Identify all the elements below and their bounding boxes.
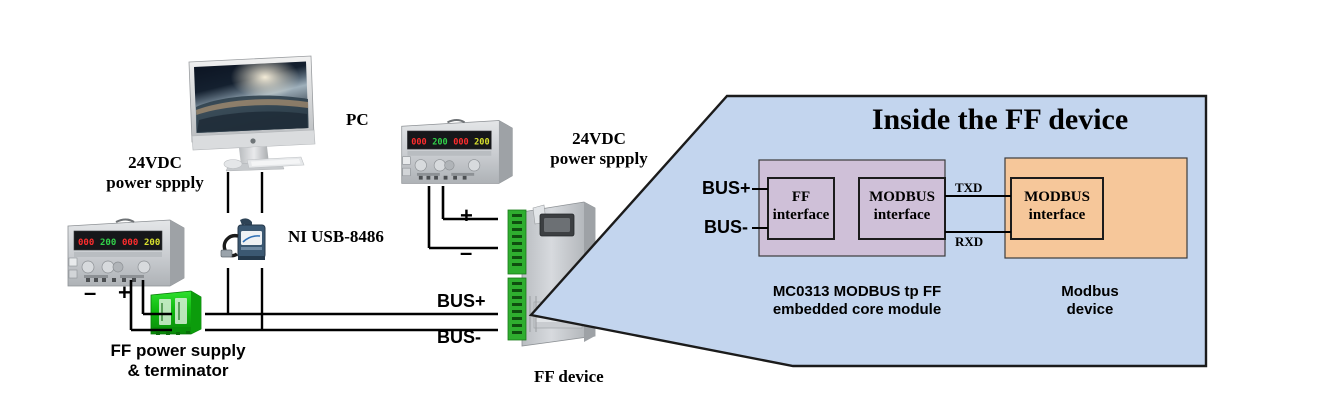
label-left-psu-minus: – bbox=[84, 280, 96, 306]
modbus-interface-module-label: MODBUS interface bbox=[859, 189, 945, 224]
diagram-canvas: 000 200 000 200 000 200 000 200 bbox=[0, 0, 1335, 411]
callout-label-rxd: RXD bbox=[955, 234, 983, 249]
label-ff-power-supply: FF power supply & terminator bbox=[88, 341, 268, 381]
label-left-psu-plus: + bbox=[118, 280, 131, 306]
label-pc: PC bbox=[346, 110, 369, 130]
callout-title: Inside the FF device bbox=[800, 102, 1200, 137]
callout-label-bus-minus: BUS- bbox=[704, 217, 748, 238]
ff-interface-label: FF interface bbox=[768, 189, 834, 224]
label-psu-left: 24VDC power sppply bbox=[90, 153, 220, 193]
callout-label-txd: TXD bbox=[955, 180, 982, 195]
modbus-device-caption: Modbus device bbox=[1010, 283, 1170, 318]
modbus-interface-device-label: MODBUS interface bbox=[1011, 189, 1103, 224]
label-psu-right: 24VDC power sppply bbox=[528, 129, 670, 169]
callout-label-bus-plus: BUS+ bbox=[702, 178, 751, 199]
core-module-caption: MC0313 MODBUS tp FF embedded core module bbox=[742, 283, 972, 318]
label-right-psu-minus: – bbox=[460, 240, 472, 266]
label-bus-plus-trunk: BUS+ bbox=[437, 291, 486, 312]
label-ni-usb-8486: NI USB-8486 bbox=[288, 227, 384, 247]
label-ff-device: FF device bbox=[534, 367, 604, 387]
label-bus-minus-trunk: BUS- bbox=[437, 327, 481, 348]
label-right-psu-plus: + bbox=[460, 203, 473, 229]
